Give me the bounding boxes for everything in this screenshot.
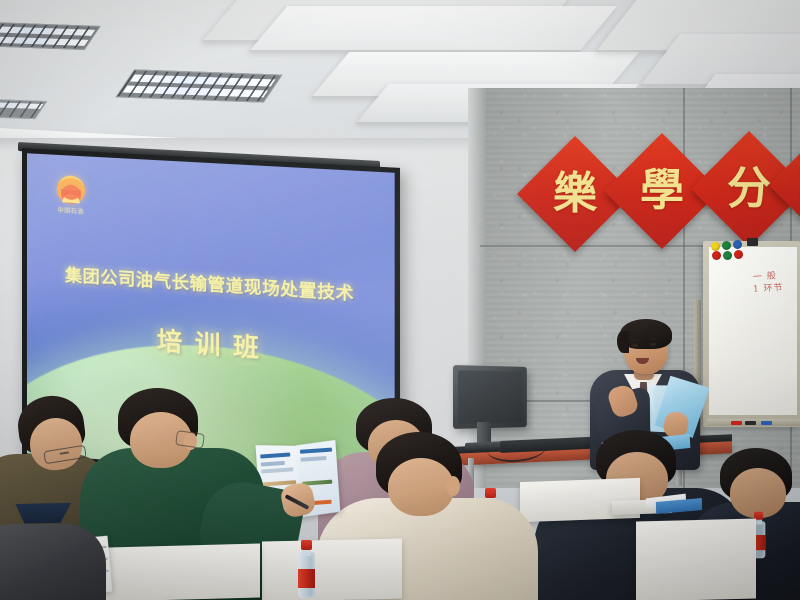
water-bottle	[298, 540, 315, 598]
marker-red[interactable]	[731, 421, 742, 425]
diamond-sign-char: 樂	[553, 172, 597, 216]
marker-black[interactable]	[745, 421, 756, 425]
magnet-blue[interactable]	[733, 240, 742, 249]
monitor-back-panel	[458, 370, 522, 423]
desk	[262, 539, 402, 600]
attendee-head	[730, 468, 786, 518]
ceiling-troffer-light-1	[115, 69, 282, 102]
attendee-head	[388, 458, 454, 516]
attendee-ear	[446, 476, 460, 496]
presenter-eye	[632, 344, 638, 347]
presenter-hair	[620, 319, 672, 349]
diamond-sign-char: 學	[640, 169, 684, 213]
magnet-red-2[interactable]	[734, 250, 743, 259]
petrochina-logo-mark	[57, 174, 85, 204]
desk	[636, 519, 756, 600]
whiteboard-writing-line-2: 1 环节	[753, 282, 784, 296]
slide-title-line-1: 集团公司油气长输管道现场处置技术	[27, 258, 395, 307]
presenter-eyebrow	[649, 338, 658, 340]
diamond-sign-char: 分	[727, 167, 771, 211]
magnet-green-2[interactable]	[723, 251, 732, 260]
whiteboard-magnets[interactable]	[711, 240, 767, 262]
whiteboard[interactable]: 一 般 1 环节	[703, 241, 800, 427]
attendee-torso	[0, 524, 106, 600]
photo-scene: 樂 學 分 享 一 般 1 环节	[0, 0, 800, 600]
whiteboard-surface[interactable]: 一 般 1 环节	[709, 247, 797, 415]
petrochina-logo: 中国石油	[54, 174, 88, 215]
whiteboard-clip[interactable]	[747, 238, 758, 246]
petrochina-logo-text: 中国石油	[54, 204, 88, 215]
presenter-eye	[650, 343, 656, 346]
ceiling-troffer-light-2	[0, 22, 101, 50]
whiteboard-marker-tray	[707, 419, 800, 426]
magnet-red[interactable]	[712, 251, 721, 260]
ceiling-slab	[249, 6, 618, 52]
magnet-yellow[interactable]	[711, 242, 720, 251]
attendee-grey-foreground	[0, 524, 106, 600]
marker-blue[interactable]	[761, 421, 772, 425]
magnet-green[interactable]	[722, 241, 731, 250]
